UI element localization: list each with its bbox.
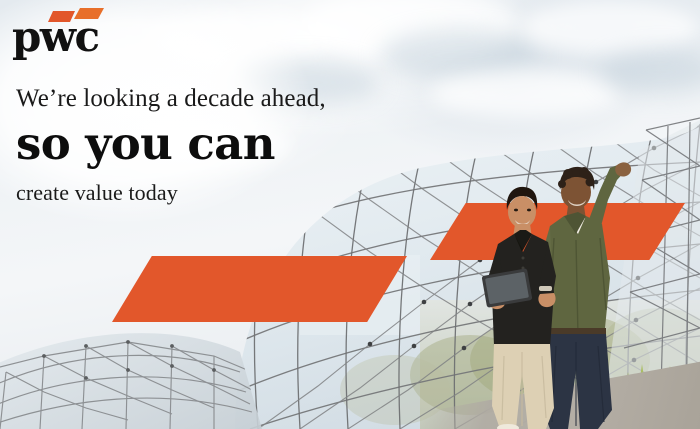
people-group [480,160,665,429]
pwc-marketing-banner: pwc We’re looking a decade ahead, so you… [0,0,700,429]
pwc-wordmark: pwc [12,16,99,58]
headline-copy: We’re looking a decade ahead, so you can… [16,86,436,204]
person-left-with-tablet [482,187,556,429]
headline-line-2: so you can [16,121,436,166]
headline-line-3: create value today [16,182,436,204]
pwc-logo[interactable]: pwc [12,8,104,56]
orange-parallelogram-lower [112,256,407,322]
headline-line-1: We’re looking a decade ahead, [16,86,436,111]
